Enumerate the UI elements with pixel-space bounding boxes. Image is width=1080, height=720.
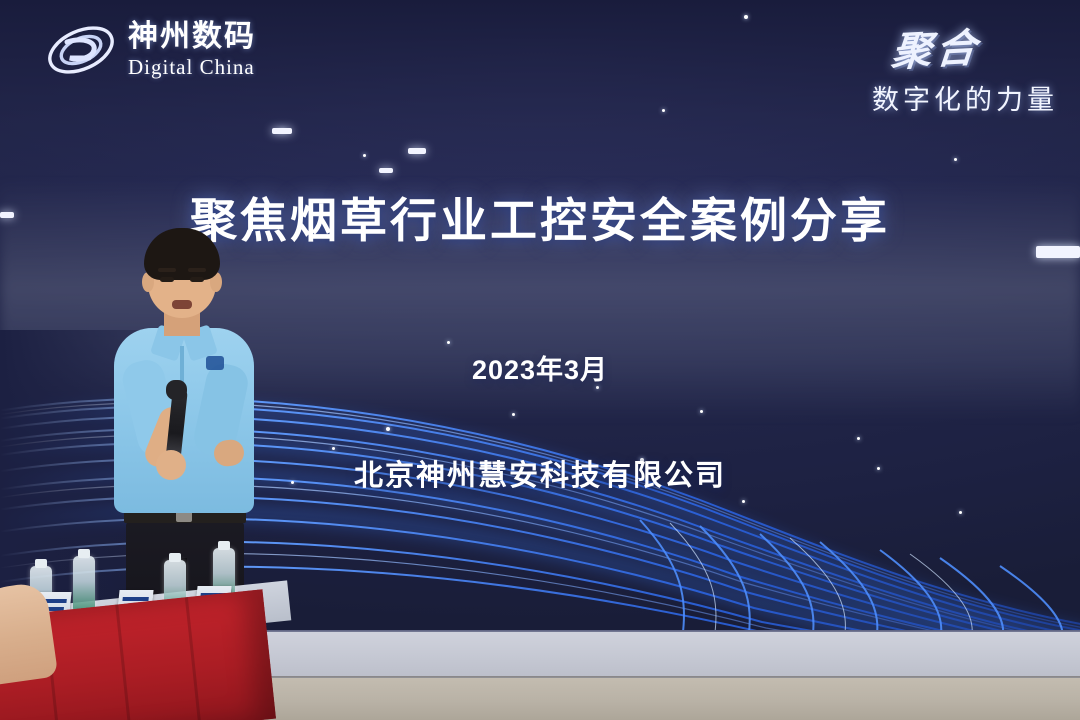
speaker-left-hand (156, 450, 186, 480)
speaker-person (96, 228, 286, 628)
particle (386, 427, 390, 431)
speaker-hair (144, 228, 220, 280)
light-reflection (408, 148, 426, 154)
speaker-brow-left (158, 268, 176, 272)
particle (744, 15, 748, 19)
water-bottle (73, 556, 95, 612)
swirl-logo-icon (44, 20, 118, 80)
speaker-eye-right (190, 277, 204, 282)
skirt-fold (115, 604, 132, 720)
particle (662, 109, 665, 112)
bottle-cap (35, 559, 47, 568)
conference-photo: 神州数码 Digital China 聚合 数字化的力量 聚焦烟草行业工控安全案… (0, 0, 1080, 720)
bottle-cap (169, 553, 181, 562)
particle (959, 511, 962, 514)
skirt-fold (185, 597, 202, 720)
brand-text: 神州数码 Digital China (128, 22, 256, 78)
speaker-brow-right (188, 268, 206, 272)
light-reflection (272, 128, 292, 134)
brand-name-cn: 神州数码 (128, 22, 256, 52)
particle (332, 447, 335, 450)
speaker-eye-left (160, 277, 174, 282)
light-reflection (379, 168, 393, 173)
particle (363, 154, 366, 157)
particle (954, 158, 957, 161)
event-subtitle: 数字化的力量 (872, 78, 1058, 117)
particle (742, 500, 745, 503)
particle (700, 410, 703, 413)
particle (857, 437, 860, 440)
shirt-logo-icon (206, 356, 224, 370)
event-slogan: 聚合 数字化的力量 (872, 18, 1058, 117)
bottle-cap (218, 541, 230, 550)
event-calligraphy: 聚合 (869, 15, 983, 79)
speaker-mouth (172, 300, 192, 309)
brand-logo: 神州数码 Digital China (44, 20, 256, 80)
brand-name-en: Digital China (128, 57, 256, 78)
bottle-cap (78, 549, 90, 558)
particle (512, 413, 515, 416)
microphone-head (166, 380, 187, 400)
particle (447, 341, 450, 344)
